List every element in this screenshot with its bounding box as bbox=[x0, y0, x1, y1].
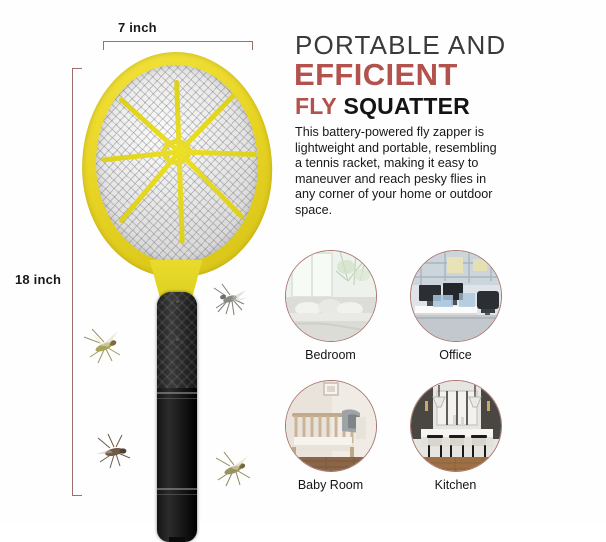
racket-mesh-grid bbox=[93, 62, 262, 266]
height-dimension-label: 18 inch bbox=[15, 272, 61, 287]
racket-mesh-head-icon bbox=[78, 49, 276, 280]
use-case-label: Baby Room bbox=[273, 478, 388, 492]
bedroom-photo-icon bbox=[285, 250, 377, 342]
use-case-grid: Bedroom bbox=[265, 250, 586, 520]
use-case-label: Kitchen bbox=[398, 478, 513, 492]
mosquito-right-lower-icon bbox=[208, 448, 258, 494]
use-case-label: Bedroom bbox=[273, 348, 388, 362]
mosquito-left-middle-icon bbox=[78, 325, 128, 371]
office-photo-icon bbox=[410, 250, 502, 342]
content-pane: PORTABLE AND EFFICIENT FLY SQUATTER This… bbox=[285, 0, 606, 523]
use-case-label: Office bbox=[398, 348, 513, 362]
headline-line-3: FLY SQUATTER bbox=[295, 93, 470, 120]
headline-accent-word: FLY bbox=[295, 93, 337, 119]
baby-room-photo-icon bbox=[285, 380, 377, 472]
racket-handle-icon bbox=[157, 292, 197, 542]
width-dimension-label: 7 inch bbox=[118, 20, 157, 35]
use-case-office: Office bbox=[398, 250, 513, 362]
kitchen-photo-icon bbox=[410, 380, 502, 472]
product-pane: 7 inch 18 inch bbox=[0, 0, 285, 523]
use-case-kitchen: Kitchen bbox=[398, 380, 513, 492]
mosquito-left-lower-icon bbox=[88, 432, 138, 476]
infographic-canvas: 7 inch 18 inch bbox=[0, 0, 606, 523]
product-description: This battery-powered fly zapper is light… bbox=[295, 125, 500, 219]
use-case-baby-room: Baby Room bbox=[273, 380, 388, 492]
headline-rest-word: SQUATTER bbox=[344, 93, 470, 119]
mosquito-right-upper-icon bbox=[206, 278, 254, 326]
width-dimension-bracket bbox=[103, 41, 253, 50]
use-case-bedroom: Bedroom bbox=[273, 250, 388, 362]
headline-line-2: EFFICIENT bbox=[294, 57, 458, 93]
